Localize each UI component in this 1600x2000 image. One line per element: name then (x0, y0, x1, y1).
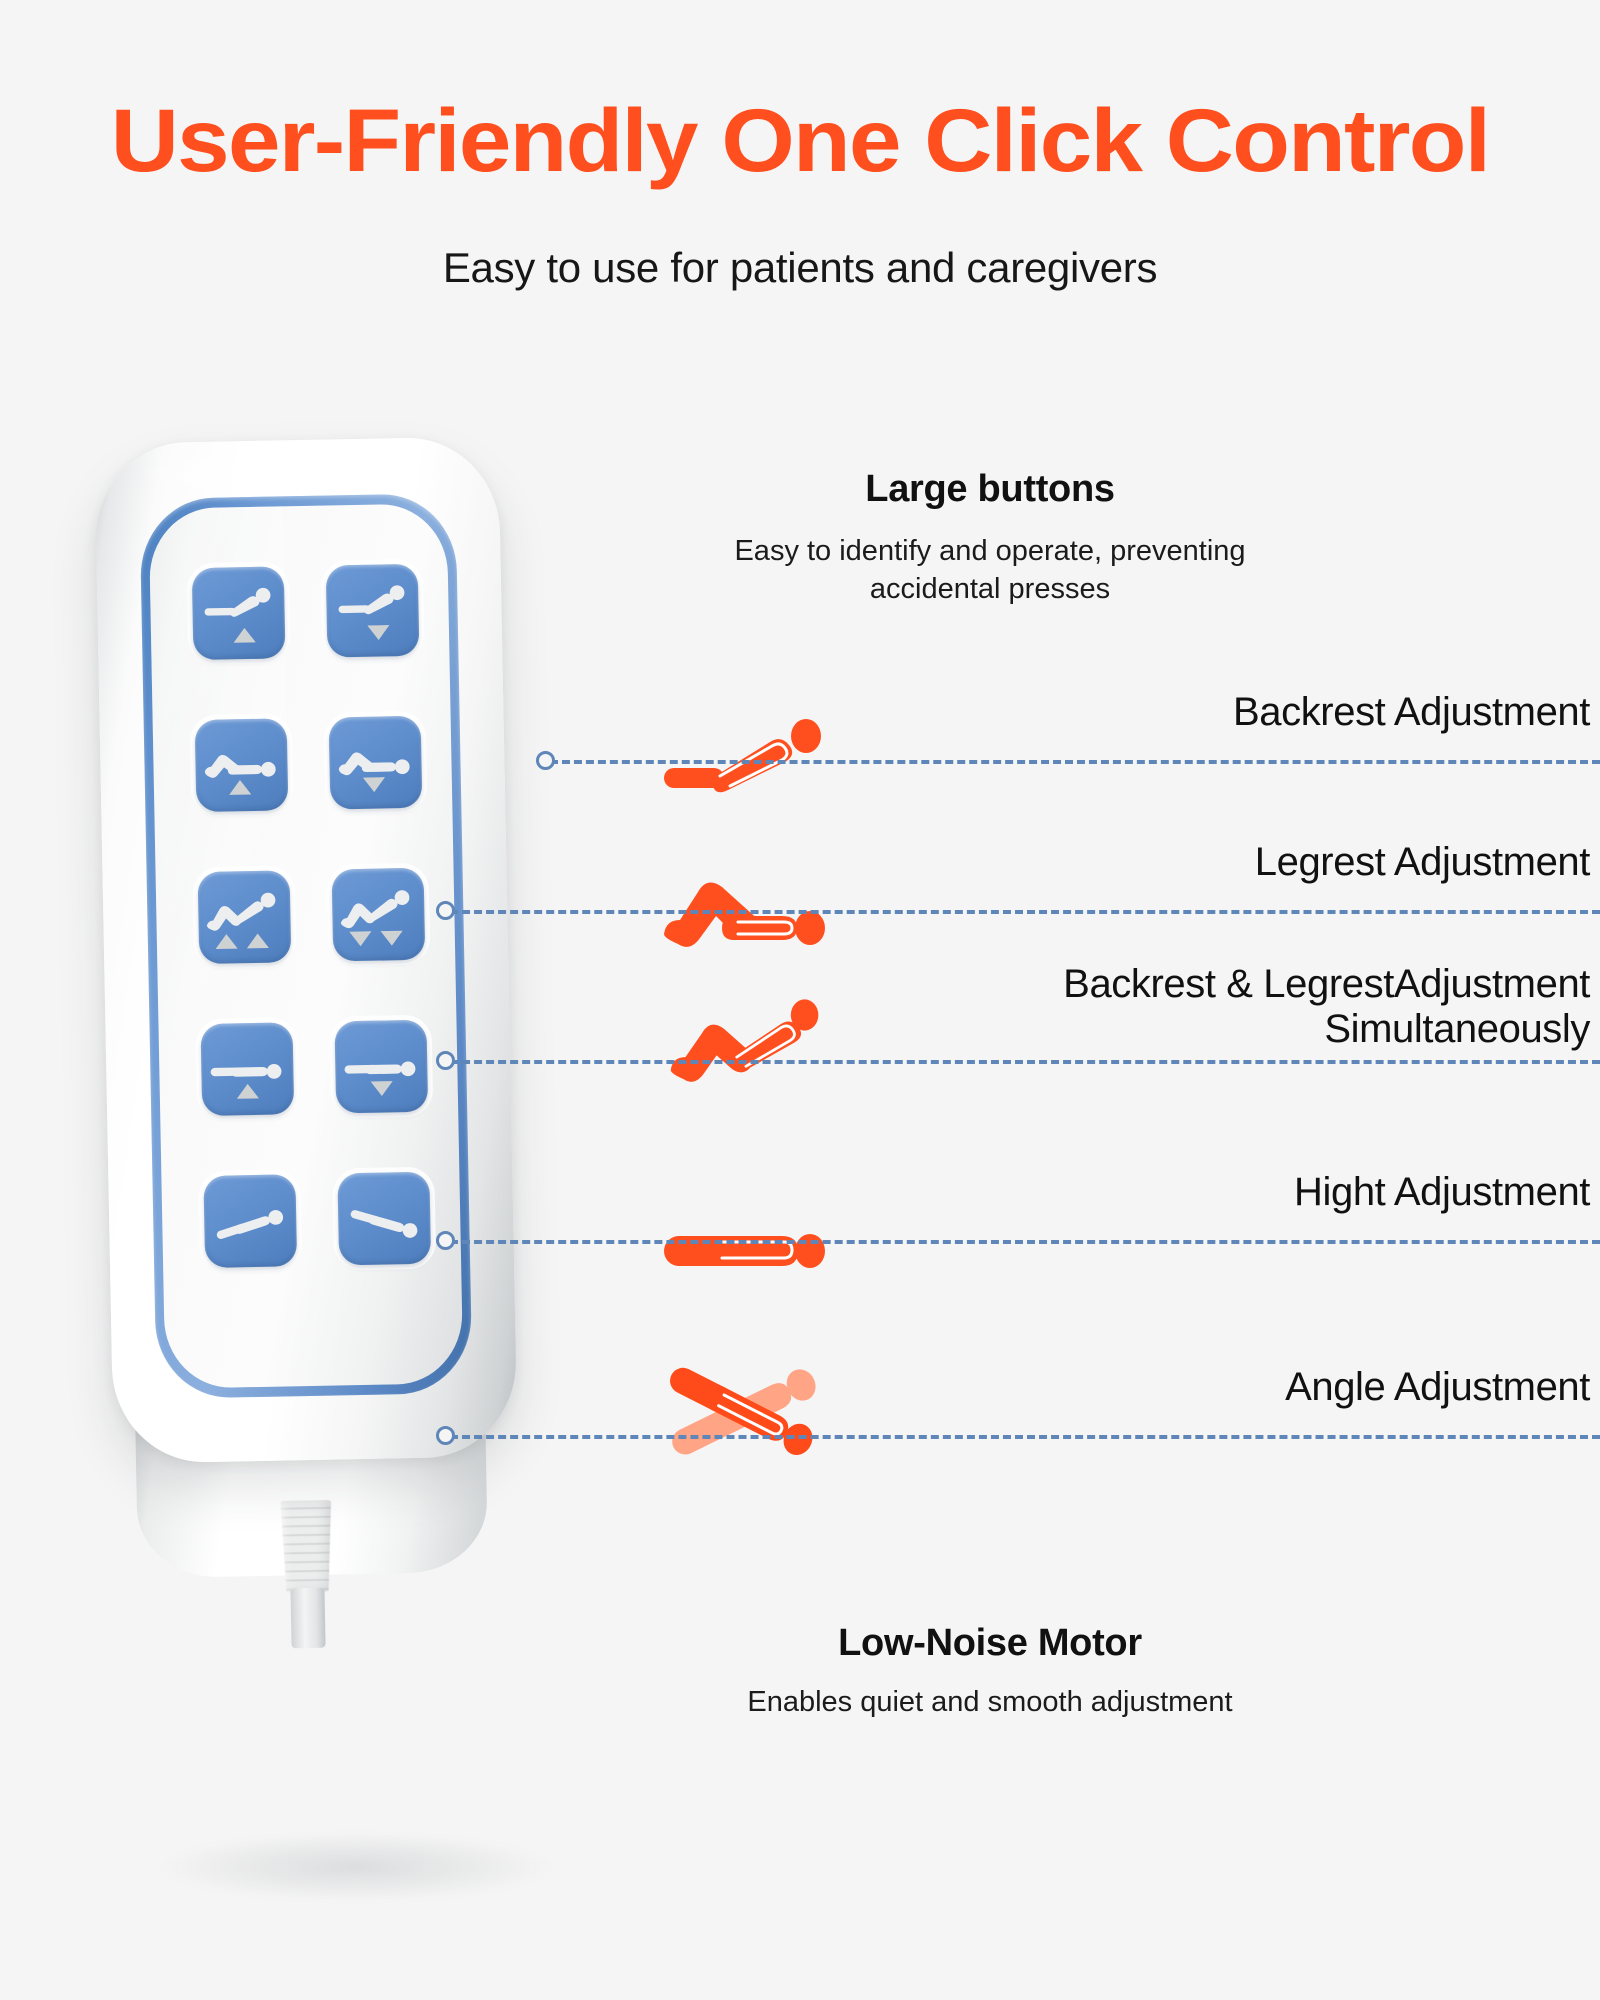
device-shadow (156, 1832, 556, 1902)
backrest-legrest-down-button[interactable] (332, 868, 426, 962)
cable-cord (290, 1588, 325, 1649)
backrest-legrest-down-pictogram (332, 868, 426, 962)
connector-dot-angle (436, 1426, 455, 1445)
connector-line-angle (450, 1435, 1600, 1439)
cable-strain-relief (277, 1500, 337, 1593)
connector-dot-backrest (536, 751, 555, 770)
legrest-up-button[interactable] (195, 718, 289, 812)
infographic-canvas: User-Friendly One Click Control Easy to … (0, 0, 1600, 2000)
legrest-up-pictogram (195, 718, 289, 812)
legrest-raised-person-icon (660, 848, 830, 958)
height-flat-person-icon (660, 1178, 830, 1288)
device-shell (96, 440, 516, 1500)
backrest-legrest-up-button[interactable] (198, 870, 292, 964)
height-down-button[interactable] (334, 1020, 428, 1114)
angle-right-button[interactable] (337, 1172, 431, 1266)
large-buttons-description: Easy to identify and operate, preventing… (690, 533, 1290, 608)
backrest-down-pictogram (326, 564, 420, 658)
backrest-down-button[interactable] (326, 564, 420, 658)
connector-dot-backrest-legrest (436, 1051, 455, 1070)
feature-label-height: Hight Adjustment (850, 1170, 1590, 1215)
connector-dot-legrest (436, 901, 455, 920)
page-title: User-Friendly One Click Control (0, 96, 1600, 185)
angle-tilt-person-icon (660, 1343, 830, 1473)
legrest-down-pictogram (329, 716, 423, 810)
backrest-legrest-up-pictogram (198, 870, 292, 964)
low-noise-motor-heading: Low-Noise Motor (690, 1622, 1290, 1665)
height-down-pictogram (334, 1020, 428, 1114)
height-up-button[interactable] (200, 1022, 294, 1116)
page-subtitle: Easy to use for patients and caregivers (0, 245, 1600, 291)
feature-label-legrest: Legrest Adjustment (850, 840, 1590, 885)
backrest-up-button[interactable] (192, 566, 286, 660)
button-grid (149, 503, 464, 1389)
feature-label-backrest: Backrest Adjustment (850, 690, 1590, 735)
feature-label-backrest-legrest: Backrest & LegrestAdjustment Simultaneou… (850, 962, 1590, 1052)
legrest-down-button[interactable] (329, 716, 423, 810)
backrest-up-pictogram (192, 566, 286, 660)
angle-tilt-left-pictogram (203, 1174, 297, 1268)
connector-line-backrest-legrest (450, 1060, 1600, 1064)
large-buttons-heading: Large buttons (700, 468, 1280, 511)
connector-line-height (450, 1240, 1600, 1244)
angle-tilt-right-pictogram (337, 1172, 431, 1266)
backrest-legrest-person-icon (660, 982, 830, 1092)
device-cable (277, 1499, 337, 1630)
height-up-pictogram (200, 1022, 294, 1116)
backrest-raised-person-icon (660, 698, 830, 808)
connector-line-backrest (550, 760, 1600, 764)
handheld-remote-control (96, 440, 516, 1500)
connector-line-legrest (450, 910, 1600, 914)
low-noise-motor-description: Enables quiet and smooth adjustment (660, 1684, 1320, 1722)
connector-dot-height (436, 1231, 455, 1250)
feature-label-angle: Angle Adjustment (850, 1365, 1590, 1410)
angle-left-button[interactable] (203, 1174, 297, 1268)
